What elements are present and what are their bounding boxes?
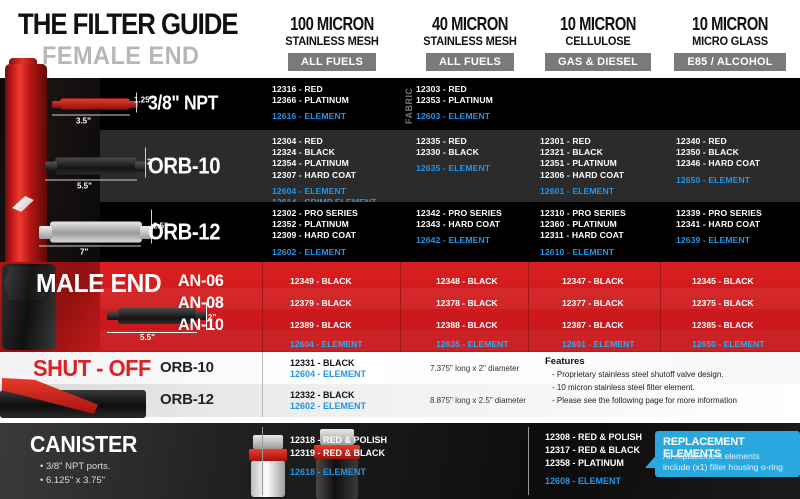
- element-part-number: 12650 - ELEMENT: [676, 175, 800, 186]
- element-part-number: 12603 - ELEMENT: [416, 111, 546, 122]
- male-end-heading: MALE END: [36, 268, 161, 299]
- callout-body: All replacement elements include (x1) fi…: [663, 451, 783, 472]
- canister-body-icon: [251, 461, 285, 497]
- element-part-number: 12602 - ELEMENT: [290, 401, 366, 411]
- part-number: 12310 - PRO SERIES: [540, 208, 668, 219]
- part-number: 12307 - HARD COAT: [272, 170, 402, 181]
- cell-40-micron: 12335 - RED 12330 - BLACK 12635 - ELEMEN…: [416, 130, 536, 202]
- part-number: 12304 - RED: [272, 136, 402, 147]
- feature-item: - 10 micron stainless steel filter eleme…: [552, 383, 695, 392]
- element-part-number: 12608 - ELEMENT: [545, 476, 621, 486]
- row-label-an06: AN-06: [178, 271, 224, 291]
- part-number: 12360 - PLATINUM: [540, 219, 668, 230]
- page-title: THE FILTER GUIDE: [18, 8, 238, 42]
- part-number: 12318 - RED & POLISH: [290, 435, 387, 445]
- element-part-number: 12610 - ELEMENT: [540, 247, 668, 258]
- canister-body-icon: [316, 459, 358, 499]
- male-end-section: MALE END 5.5" 2" AN-06 AN-08 AN-10 12349…: [0, 262, 800, 352]
- part-number: 12316 - RED: [272, 84, 402, 95]
- element-part-number: 12602 - ELEMENT: [272, 247, 402, 258]
- canister-lid-icon: [253, 435, 283, 449]
- row-label-an10: AN-10: [178, 315, 224, 335]
- element-part-number: 12639 - ELEMENT: [676, 235, 800, 246]
- filter-body-icon: [50, 222, 142, 243]
- part-number: 12343 - HARD COAT: [416, 219, 536, 230]
- column-divider: [660, 262, 661, 352]
- part-number: 12324 - BLACK: [272, 147, 402, 158]
- column-header-100-micron: 100 MICRON STAINLESS MESH ALL FUELS: [262, 14, 402, 71]
- cell-40-micron: 12303 - RED 12353 - PLATINUM 12603 - ELE…: [416, 78, 546, 130]
- element-part-number: 12642 - ELEMENT: [416, 235, 536, 246]
- column-header-10-micron-cellulose: 10 MICRON CELLULOSE GAS & DIESEL: [528, 14, 668, 71]
- dimension-line: [145, 148, 146, 178]
- part-number: 12309 - HARD COAT: [272, 230, 402, 241]
- dimension-length: 7": [80, 248, 88, 257]
- end-cap-icon: [39, 226, 52, 239]
- cell-40-micron: 12342 - PRO SERIES 12343 - HARD COAT 126…: [416, 202, 536, 262]
- cell-10-micron-micro-glass: 12339 - PRO SERIES 12341 - HARD COAT 126…: [676, 202, 800, 262]
- column-fuel-badge: ALL FUELS: [426, 53, 514, 71]
- part-number: 12347 - BLACK: [562, 276, 624, 286]
- callout-line-2: include (x1) filter housing o-ring: [663, 462, 783, 472]
- element-part-number: 12635 - ELEMENT: [436, 339, 509, 349]
- dimension-line: [52, 115, 130, 116]
- part-number: 12301 - RED: [540, 136, 668, 147]
- dimension-text: 8.875" long x 2.5" diameter: [430, 396, 526, 405]
- canister-spec: • 3/8" NPT ports.: [40, 461, 110, 472]
- table-row[interactable]: 7" 2.5" ORB-12 12302 - PRO SERIES 12352 …: [100, 202, 800, 262]
- product-photo-orb10: 5.5" 2": [55, 158, 137, 175]
- part-number: 12317 - RED & BLACK: [545, 445, 640, 455]
- column-header-40-micron: 40 MICRON STAINLESS MESH ALL FUELS: [400, 14, 540, 71]
- canister-heading: CANISTER: [30, 431, 137, 458]
- header-band: THE FILTER GUIDE FEMALE END 100 MICRON S…: [0, 0, 800, 78]
- column-material: MICRO GLASS: [663, 36, 797, 48]
- element-part-number: 12635 - ELEMENT: [416, 163, 536, 174]
- cell-100-micron: 12302 - PRO SERIES 12352 - PLATINUM 1230…: [272, 202, 402, 262]
- cell-100-micron: 12304 - RED 12324 - BLACK 12354 - PLATIN…: [272, 130, 402, 202]
- part-number: 12311 - HARD COAT: [540, 230, 668, 241]
- column-divider: [400, 262, 401, 352]
- part-number: 12387 - BLACK: [562, 320, 624, 330]
- feature-item: - Proprietary stainless steel shutoff va…: [552, 370, 724, 379]
- part-number: 12354 - PLATINUM: [272, 158, 402, 169]
- column-divider: [262, 427, 263, 495]
- filter-body-icon: [60, 99, 130, 110]
- column-micron: 40 MICRON: [413, 14, 528, 35]
- cell-100-micron: 12316 - RED 12366 - PLATINUM 12616 - ELE…: [272, 78, 402, 130]
- canister-red-band-icon: [249, 449, 287, 461]
- cell-10-micron-cellulose: 12310 - PRO SERIES 12360 - PLATINUM 1231…: [540, 202, 668, 262]
- element-part-number: 12616 - ELEMENT: [272, 111, 402, 122]
- part-number: 12321 - BLACK: [540, 147, 668, 158]
- element-part-number: 12618 - ELEMENT: [290, 467, 366, 477]
- column-micron: 10 MICRON: [673, 14, 788, 35]
- part-number: 12340 - RED: [676, 136, 800, 147]
- cell-10-micron-micro-glass: 12340 - RED 12350 - BLACK 12346 - HARD C…: [676, 130, 800, 202]
- element-part-number: 12601 - ELEMENT: [562, 339, 635, 349]
- female-end-section: 3.5" 1.25" 3/8" NPT 12316 - RED 12366 - …: [0, 78, 800, 262]
- end-cap-icon: [52, 101, 62, 108]
- end-cap-icon: [107, 312, 119, 320]
- part-number: 12319 - RED & BLACK: [290, 448, 385, 458]
- part-number: 12302 - PRO SERIES: [272, 208, 402, 219]
- part-number: 12378 - BLACK: [436, 298, 498, 308]
- column-fuel-badge: GAS & DIESEL: [545, 53, 651, 71]
- table-row[interactable]: 3.5" 1.25" 3/8" NPT 12316 - RED 12366 - …: [100, 78, 800, 130]
- dimension-length: 5.5": [77, 182, 92, 191]
- part-number: 12303 - RED: [416, 84, 546, 95]
- shut-off-section: SHUT - OFF ORB-10 ORB-12 12331 - BLACK 1…: [0, 352, 800, 423]
- part-number: 12385 - BLACK: [692, 320, 754, 330]
- product-photo-npt: 3.5" 1.25": [60, 99, 130, 110]
- column-header-10-micron-micro-glass: 10 MICRON MICRO GLASS E85 / ALCOHOL: [660, 14, 800, 71]
- end-cap-icon: [45, 161, 57, 171]
- callout-line-1: All replacement elements: [663, 451, 760, 461]
- table-row[interactable]: 5.5" 2" ORB-10 12304 - RED 12324 - BLACK…: [100, 130, 800, 202]
- part-number: 12377 - BLACK: [562, 298, 624, 308]
- row-label-shutoff-orb12: ORB-12: [160, 391, 214, 408]
- part-number: 12379 - BLACK: [290, 298, 352, 308]
- column-micron: 100 MICRON: [275, 14, 390, 35]
- part-number: 12346 - HARD COAT: [676, 158, 800, 169]
- column-material: STAINLESS MESH: [403, 36, 537, 48]
- part-number: 12335 - RED: [416, 136, 536, 147]
- part-number: 12341 - HARD COAT: [676, 219, 800, 230]
- part-number: 12350 - BLACK: [676, 147, 800, 158]
- row-label-orb10: ORB-10: [148, 153, 220, 180]
- part-number: 12308 - RED & POLISH: [545, 432, 642, 442]
- column-divider: [262, 352, 263, 417]
- element-part-number: 12601 - ELEMENT: [540, 186, 668, 197]
- column-material: CELLULOSE: [531, 36, 665, 48]
- part-number: 12353 - PLATINUM: [416, 95, 546, 106]
- column-divider: [262, 262, 263, 352]
- part-number: 12332 - BLACK: [290, 390, 355, 400]
- column-divider: [528, 262, 529, 352]
- features-heading: Features: [545, 356, 585, 367]
- dimension-length: 3.5": [76, 117, 91, 126]
- part-number: 12339 - PRO SERIES: [676, 208, 800, 219]
- dimension-length: 5.5": [140, 333, 155, 342]
- part-number: 12366 - PLATINUM: [272, 95, 402, 106]
- part-number: 12331 - BLACK: [290, 358, 355, 368]
- row-label-an08: AN-08: [178, 293, 224, 313]
- fabric-tag-label: FABRIC: [404, 84, 414, 124]
- dimension-line: [39, 246, 141, 247]
- column-fuel-badge: E85 / ALCOHOL: [674, 53, 785, 71]
- element-part-number: 12650 - ELEMENT: [692, 339, 765, 349]
- column-material: STAINLESS MESH: [265, 36, 399, 48]
- part-number: 12375 - BLACK: [692, 298, 754, 308]
- column-fuel-badge: ALL FUELS: [288, 53, 376, 71]
- part-number: 12342 - PRO SERIES: [416, 208, 536, 219]
- dimension-line: [45, 180, 137, 181]
- replacement-elements-callout[interactable]: REPLACEMENT ELEMENTS All replacement ele…: [655, 431, 800, 477]
- part-number: 12306 - HARD COAT: [540, 170, 668, 181]
- row-label-shutoff-orb10: ORB-10: [160, 359, 214, 376]
- female-end-heading: FEMALE END: [42, 42, 199, 71]
- part-number: 12352 - PLATINUM: [272, 219, 402, 230]
- canister-photo-polish: [245, 435, 291, 497]
- filter-guide-page: THE FILTER GUIDE FEMALE END 100 MICRON S…: [0, 0, 800, 499]
- part-number: 12351 - PLATINUM: [540, 158, 668, 169]
- feature-item: - Please see the following page for more…: [552, 396, 737, 405]
- part-number: 12389 - BLACK: [290, 320, 352, 330]
- row-label-orb12: ORB-12: [148, 219, 220, 246]
- element-part-number: 12604 - ELEMENT: [290, 369, 366, 379]
- canister-spec: • 6.125" x 3.75": [40, 475, 105, 486]
- part-number: 12388 - BLACK: [436, 320, 498, 330]
- element-part-number: 12604 - ELEMENT: [290, 339, 363, 349]
- part-number: 12345 - BLACK: [692, 276, 754, 286]
- dimension-text: 7.375" long x 2" diameter: [430, 364, 519, 373]
- product-photo-orb12: 7" 2.5": [50, 222, 142, 243]
- column-micron: 10 MICRON: [541, 14, 656, 35]
- element-part-number: 12604 - ELEMENT: [272, 186, 402, 197]
- part-number: 12330 - BLACK: [416, 147, 536, 158]
- cell-10-micron-cellulose: 12301 - RED 12321 - BLACK 12351 - PLATIN…: [540, 130, 668, 202]
- filter-body-icon: [55, 158, 137, 175]
- column-divider: [528, 427, 529, 495]
- part-number: 12348 - BLACK: [436, 276, 498, 286]
- part-number: 12358 - PLATINUM: [545, 458, 624, 468]
- part-number: 12349 - BLACK: [290, 276, 352, 286]
- shut-off-valve-photo: [0, 374, 146, 422]
- row-label-npt: 3/8" NPT: [148, 93, 218, 116]
